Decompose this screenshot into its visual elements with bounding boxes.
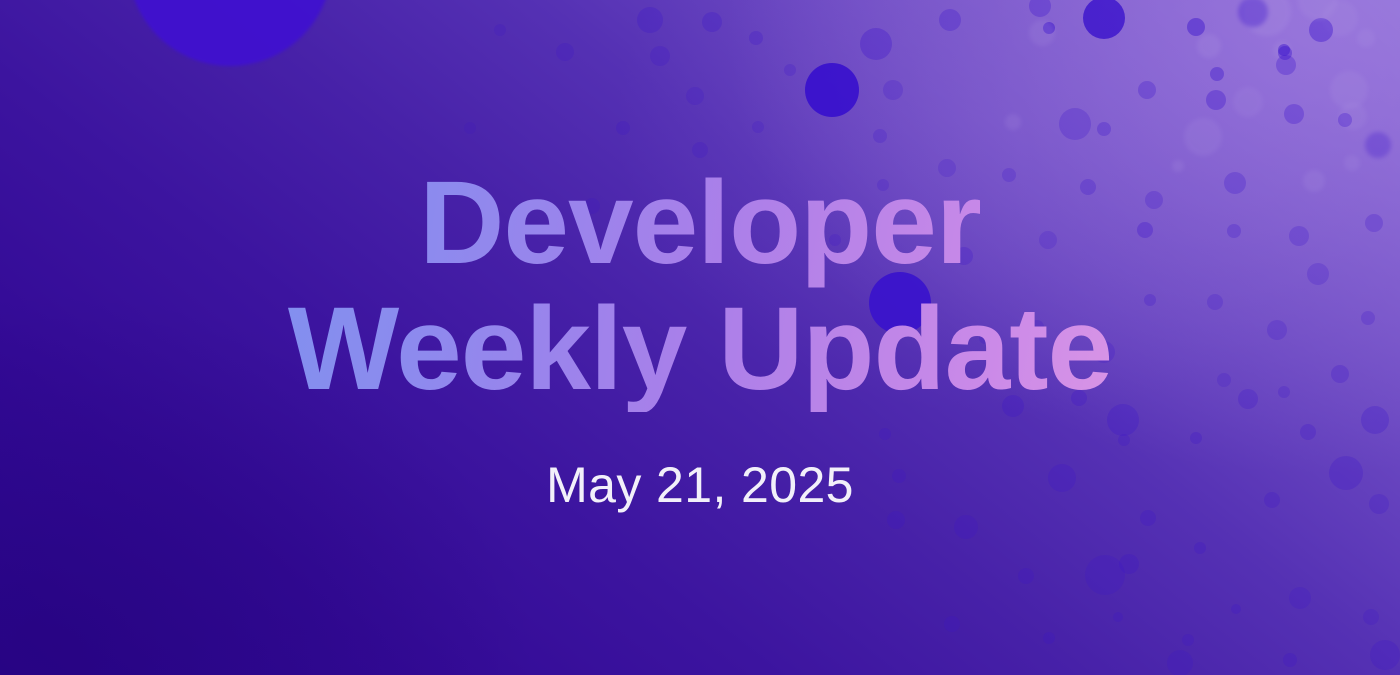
page-title: DeveloperWeekly Update — [288, 161, 1112, 411]
slide-content: DeveloperWeekly Update May 21, 2025 — [0, 0, 1400, 675]
title-slide: DeveloperWeekly Update May 21, 2025 — [0, 0, 1400, 675]
title-line-1: Developer — [419, 157, 981, 289]
slide-date: May 21, 2025 — [546, 412, 854, 514]
title-line-2: Weekly Update — [288, 283, 1112, 415]
